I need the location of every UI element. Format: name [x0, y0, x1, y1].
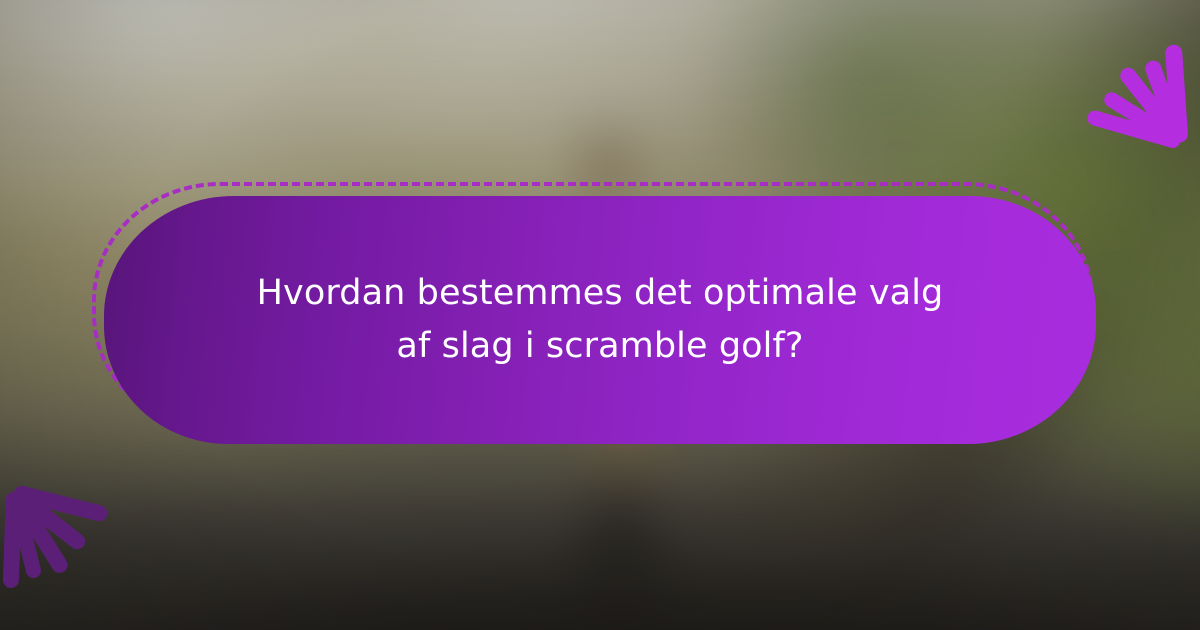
screenshot-stage: Hvordan bestemmes det optimale valg af s…: [0, 0, 1200, 630]
question-card: Hvordan bestemmes det optimale valg af s…: [104, 196, 1096, 444]
question-text: Hvordan bestemmes det optimale valg af s…: [235, 267, 965, 373]
burst-ray-icon: [3, 492, 22, 588]
